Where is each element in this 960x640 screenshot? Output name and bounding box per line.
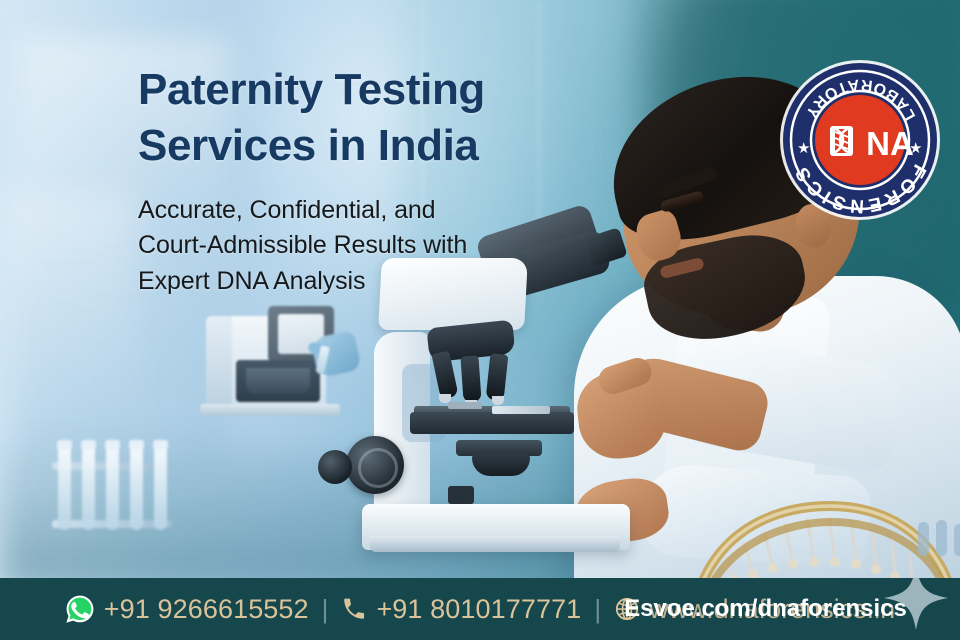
microscope-focus-knob-ring [358,448,398,488]
microscope-slide [492,406,550,414]
phone-number[interactable]: +91 8010177771 [376,594,581,625]
tube-cap [57,440,72,450]
whatsapp-icon[interactable] [65,594,95,624]
page-title: Paternity Testing Services in India [138,62,558,175]
logo-dna-letter-d [830,126,853,156]
forensics-laboratory-logo[interactable]: FORENSICS LABORATORY ★ ★ NA [778,58,942,222]
test-tube [82,446,95,530]
phone-contact[interactable]: +91 8010177771 [341,594,581,625]
tube-cap [105,440,120,450]
website-contact[interactable]: www.dnaforensics.in Esvoe.com/dnaforensi… [614,594,895,625]
analyzer-tray-inner [246,368,310,394]
test-tube-rack [52,436,172,546]
microscope-stage-clip [448,402,482,409]
analyzer-base [200,404,340,416]
subhead-line-3: Expert DNA Analysis [138,267,365,295]
headline-line-2: Services in India [138,121,478,170]
globe-icon[interactable] [614,596,640,622]
headline-line-1: Paternity Testing [138,65,485,114]
microscope-condenser-lower [472,454,530,476]
logo-center-text: NA [866,125,914,162]
website-url[interactable]: www.dnaforensics.in [649,594,895,625]
whatsapp-contact[interactable]: +91 9266615552 [65,594,309,625]
test-tube [106,446,119,530]
lab-analyzer-machine [196,300,364,420]
footer-separator-2: | [594,594,601,625]
objective-lens [460,355,481,402]
logo-star-left: ★ [797,140,810,157]
analyzer-side-panel [206,316,232,414]
subhead-line-1: Accurate, Confidential, and [138,196,435,224]
objective-lens [486,353,509,401]
footer-separator-1: | [322,594,329,625]
microscope-base-front [370,536,620,552]
contact-footer-bar: +91 9266615552 | +91 8010177771 | www.dn… [0,578,960,640]
microscope-stage [410,412,574,434]
page-subtitle: Accurate, Confidential, and Court-Admiss… [138,193,558,300]
microscope-fine-focus-knob [318,450,352,484]
test-tube [58,446,71,530]
tube-cap [81,440,96,450]
phone-icon[interactable] [341,596,367,622]
objective-lens-tip [492,396,504,405]
background-lab-shelf-secondary [0,192,134,448]
subhead-line-2: Court-Admissible Results with [138,231,467,259]
test-tube [154,446,167,530]
whatsapp-number[interactable]: +91 9266615552 [104,594,309,625]
tube-cap [129,440,144,450]
paternity-testing-banner: Paternity Testing Services in India Accu… [0,0,960,640]
microscope-illuminator [448,486,474,504]
test-tube [130,446,143,530]
headline-block: Paternity Testing Services in India Accu… [138,62,558,299]
tube-cap [153,440,168,450]
